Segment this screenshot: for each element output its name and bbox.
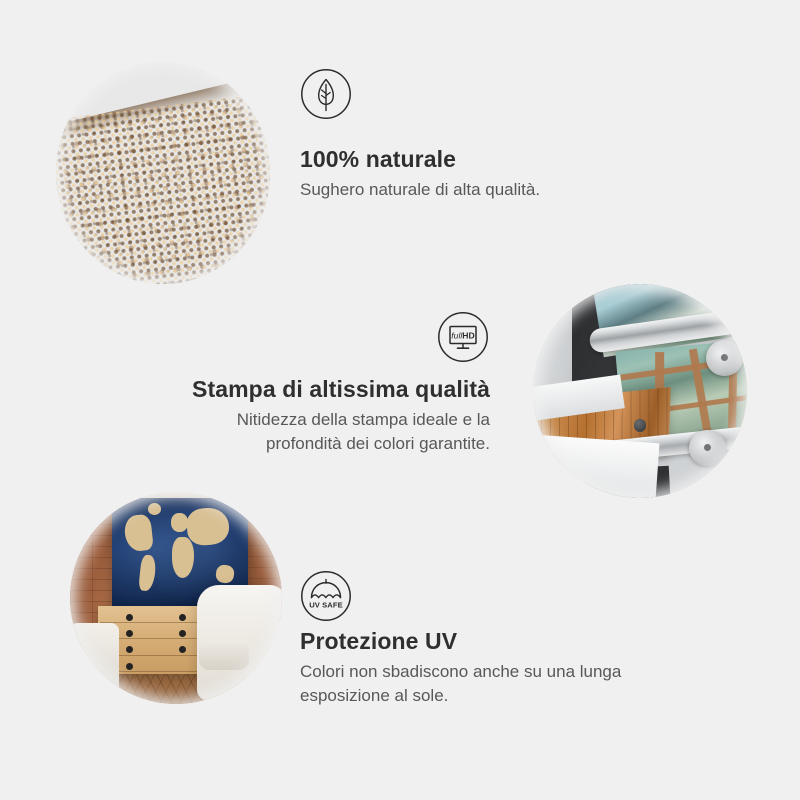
fullhd-monitor-icon: full HD — [437, 311, 489, 363]
printer-output-tray — [533, 433, 660, 498]
printer-photo-image — [533, 284, 747, 498]
feature-description-uv-protection: Colori non sbadiscono anche su una lunga… — [300, 660, 700, 708]
print-quality-desc-line-2: profondità dei colori garantite. — [266, 434, 490, 453]
cork-board-closeup-photo — [56, 62, 270, 284]
cork-photo-image — [56, 62, 270, 284]
printer-roller-wheel-top — [706, 340, 742, 376]
fullhd-label-hd: HD — [462, 330, 474, 340]
printer-knob — [634, 419, 647, 432]
feature-title-print-quality: Stampa di altissima qualità — [170, 376, 490, 403]
print-quality-desc-line-1: Nitidezza della stampa ideale e la — [237, 410, 490, 429]
uv-safe-label: UV SAFE — [309, 601, 343, 610]
features-stage: 100% naturale Sughero naturale di alta q… — [0, 0, 800, 800]
living-room-world-map-photo — [70, 492, 282, 704]
feature-title-natural: 100% naturale — [300, 146, 456, 173]
large-format-printer-photo — [533, 284, 747, 498]
armchair-right — [197, 585, 282, 699]
armchair-left — [70, 623, 119, 695]
feature-description-print-quality: Nitidezza della stampa ideale e la profo… — [170, 408, 490, 456]
printer-roller-wheel-bottom — [689, 430, 725, 466]
cork-grain-texture — [56, 81, 270, 284]
feature-title-uv-protection: Protezione UV — [300, 628, 457, 655]
room-photo-image — [70, 492, 282, 704]
uv-safe-umbrella-icon: UV SAFE — [300, 570, 352, 622]
leaf-icon — [300, 68, 352, 120]
uv-desc-line-2: esposizione al sole. — [300, 686, 448, 705]
feature-description-natural: Sughero naturale di alta qualità. — [300, 178, 540, 202]
uv-desc-line-1: Colori non sbadiscono anche su una lunga — [300, 662, 621, 681]
